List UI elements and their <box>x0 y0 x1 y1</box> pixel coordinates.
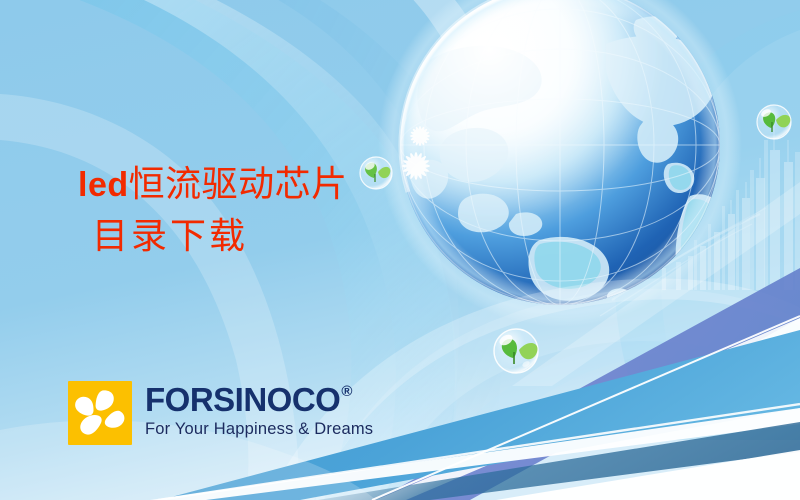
headline-text: led恒流驱动芯片 目录下载 <box>78 163 348 259</box>
logo-wordmark-label: FORSINOCO <box>145 383 340 416</box>
logo-tagline: For Your Happiness & Dreams <box>145 420 373 439</box>
company-logo[interactable]: FORSINOCO ® For Your Happiness & Dreams <box>68 381 373 445</box>
logo-wordmark: FORSINOCO ® <box>145 383 373 416</box>
bubble-sprout-mid <box>494 329 538 373</box>
logo-text-block: FORSINOCO ® For Your Happiness & Dreams <box>145 381 373 439</box>
four-petal-pinwheel-icon <box>68 381 132 445</box>
bubble-sprout-right <box>757 105 791 139</box>
headline-line-2: 目录下载 <box>92 215 348 259</box>
registered-trademark-icon: ® <box>341 384 352 399</box>
sparkle-star-1 <box>410 126 430 146</box>
bubble-sprout-left <box>360 157 392 189</box>
sparkle-star-2 <box>402 152 430 180</box>
promo-banner: led恒流驱动芯片 目录下载 FORSINOCO ® For Your Happ… <box>0 0 800 500</box>
headline-line-1-latin: led <box>78 166 129 204</box>
headline-line-1-cjk: 恒流驱动芯片 <box>129 164 348 205</box>
headline-line-1: led恒流驱动芯片 <box>78 163 348 207</box>
